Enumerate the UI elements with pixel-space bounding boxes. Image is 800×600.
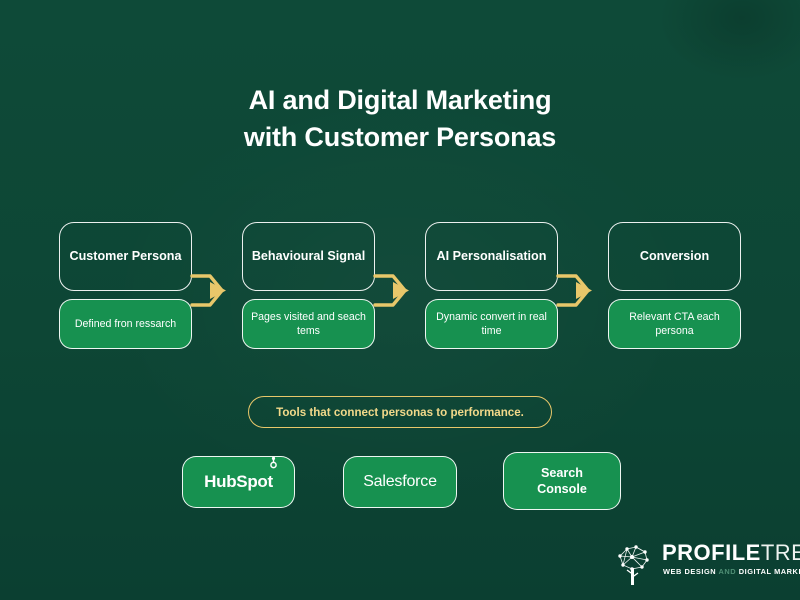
chevron-right-arrow-icon — [552, 268, 598, 314]
profiletree-network-tree-icon — [610, 540, 656, 588]
flow-step-1-detail: Defined fron ressarch — [59, 299, 192, 349]
search-console-line-2: Console — [537, 482, 587, 496]
search-console-wordmark: Search Console — [537, 465, 587, 498]
search-console-line-1: Search — [541, 466, 583, 480]
tools-callout-text: Tools that connect personas to performan… — [276, 406, 524, 419]
logo-word-tree: TREE — [761, 540, 800, 565]
infographic-canvas: AI and Digital Marketing with Customer P… — [0, 0, 800, 600]
salesforce-wordmark: Salesforce — [363, 473, 437, 491]
tagline-part-2: DIGITAL MARKETING — [736, 567, 800, 576]
tagline-part-1: WEB DESIGN — [663, 567, 718, 576]
hubspot-sprocket-icon — [267, 456, 280, 469]
tool-logo-row: HubSpot Salesforce Search Console — [0, 456, 800, 518]
chevron-right-arrow-icon — [186, 268, 232, 314]
profiletree-logo: PROFILETREE WEB DESIGN AND DIGITAL MARKE… — [610, 538, 790, 590]
tool-chip-hubspot: HubSpot — [182, 456, 295, 508]
title-line-1: AI and Digital Marketing — [0, 82, 800, 119]
flow-step-1-heading: Customer Persona — [59, 222, 192, 291]
profiletree-tagline: WEB DESIGN AND DIGITAL MARKETING — [663, 568, 800, 575]
flow-step-1: Customer Persona Defined fron ressarch — [59, 222, 192, 349]
tool-chip-search-console: Search Console — [503, 452, 621, 510]
flow-step-4: Conversion Relevant CTA each persona — [608, 222, 741, 349]
logo-word-profile: PROFILE — [662, 540, 761, 565]
flow-step-4-detail: Relevant CTA each persona — [608, 299, 741, 349]
page-title: AI and Digital Marketing with Customer P… — [0, 82, 800, 157]
title-line-2: with Customer Personas — [0, 119, 800, 156]
chevron-right-arrow-icon — [369, 268, 415, 314]
flow-step-2-heading: Behavioural Signal — [242, 222, 375, 291]
process-flow: Customer Persona Defined fron ressarch B… — [0, 222, 800, 357]
tools-callout-banner: Tools that connect personas to performan… — [248, 396, 552, 428]
flow-step-2: Behavioural Signal Pages visited and sea… — [242, 222, 375, 349]
flow-step-2-detail: Pages visited and seach tems — [242, 299, 375, 349]
hubspot-wordmark: HubSpot — [204, 472, 273, 492]
profiletree-wordmark: PROFILETREE — [662, 542, 800, 564]
tagline-and: AND — [718, 567, 736, 576]
flow-step-3: AI Personalisation Dynamic convert in re… — [425, 222, 558, 349]
flow-step-3-detail: Dynamic convert in real time — [425, 299, 558, 349]
flow-step-4-heading: Conversion — [608, 222, 741, 291]
flow-step-3-heading: AI Personalisation — [425, 222, 558, 291]
tool-chip-salesforce: Salesforce — [343, 456, 457, 508]
